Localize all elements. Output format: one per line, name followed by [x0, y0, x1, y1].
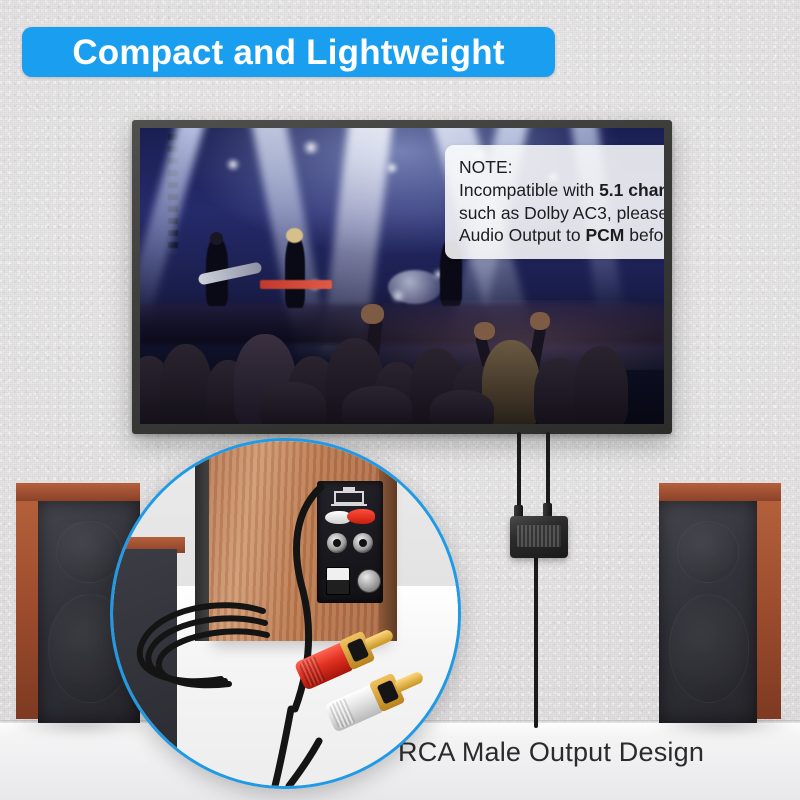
note-line-1: Incompatible with 5.1 channel signal [459, 179, 664, 202]
audience-crowd [140, 294, 664, 424]
plug-pin-gold [364, 628, 394, 650]
note-heading: NOTE: [459, 156, 664, 179]
speaker-top-panel [659, 483, 781, 501]
performer-head [286, 228, 303, 243]
tv-screen: NOTE: Incompatible with 5.1 channel sign… [140, 128, 664, 424]
note-callout: NOTE: Incompatible with 5.1 channel sign… [445, 145, 664, 259]
audience-head [260, 382, 326, 424]
keyboard-stand [260, 280, 332, 289]
speaker-side-panel [757, 501, 781, 719]
note-line-3: Audio Output to PCM before Using [459, 224, 664, 247]
audience-head [342, 386, 412, 424]
raised-fist [530, 312, 550, 330]
note-line-3-bold: PCM [585, 225, 624, 245]
television: NOTE: Incompatible with 5.1 channel sign… [132, 120, 672, 434]
raised-fist [474, 322, 495, 340]
headline-banner: Compact and Lightweight [22, 27, 555, 77]
note-line-2: such as Dolby AC3, please set the [459, 202, 664, 225]
audio-converter-device [510, 516, 568, 558]
bookshelf-speaker-right [659, 483, 781, 723]
audience-head [430, 390, 494, 424]
note-line-3-suffix: before Using [624, 225, 664, 245]
cable-plug-right [543, 503, 552, 517]
converter-output-cable [534, 556, 538, 728]
raised-fist [361, 304, 384, 324]
magnified-cable-path [113, 441, 458, 786]
product-marketing-image: Compact and Lightweight [0, 0, 800, 800]
stage-spotlight [300, 140, 322, 155]
magnifier-circle [110, 438, 461, 789]
stage-spotlight [384, 162, 400, 174]
plug-pin-gold [394, 670, 424, 692]
note-line-3-prefix: Audio Output to [459, 225, 585, 245]
speaker-side-panel [16, 501, 38, 719]
stage-spotlight [224, 158, 242, 171]
converter-face-detail [517, 525, 561, 547]
performer-head [210, 232, 223, 245]
speaker-grille [659, 501, 757, 723]
audience-head [574, 346, 628, 424]
note-line-1-bold: 5.1 channel signal [599, 180, 664, 200]
note-line-1-prefix: Incompatible with [459, 180, 599, 200]
headline-text: Compact and Lightweight [72, 35, 504, 70]
audience-head [160, 344, 212, 424]
